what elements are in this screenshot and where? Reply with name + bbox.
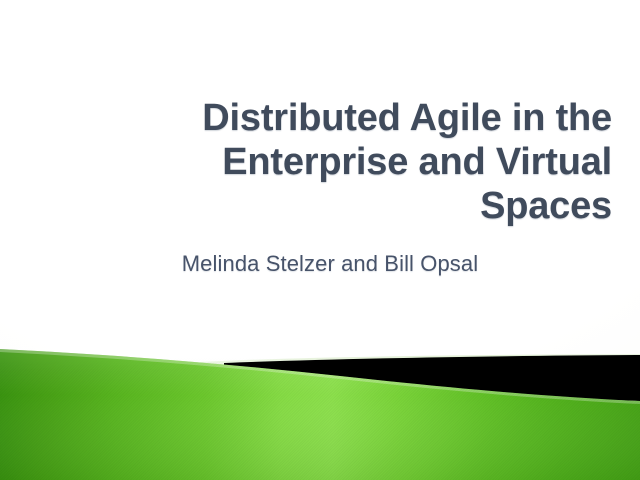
title-line-1: Distributed Agile in the	[28, 96, 612, 140]
title-slide: Distributed Agile in the Enterprise and …	[0, 0, 640, 480]
subtitle: Melinda Stelzer and Bill Opsal	[28, 250, 612, 278]
subtitle-text: Melinda Stelzer and Bill Opsal	[162, 251, 478, 276]
title-line-2: Enterprise and Virtual	[28, 140, 612, 184]
page-title: Distributed Agile in the Enterprise and …	[28, 96, 612, 228]
title-line-3: Spaces	[28, 184, 612, 228]
green-swoosh-banner	[0, 300, 640, 480]
